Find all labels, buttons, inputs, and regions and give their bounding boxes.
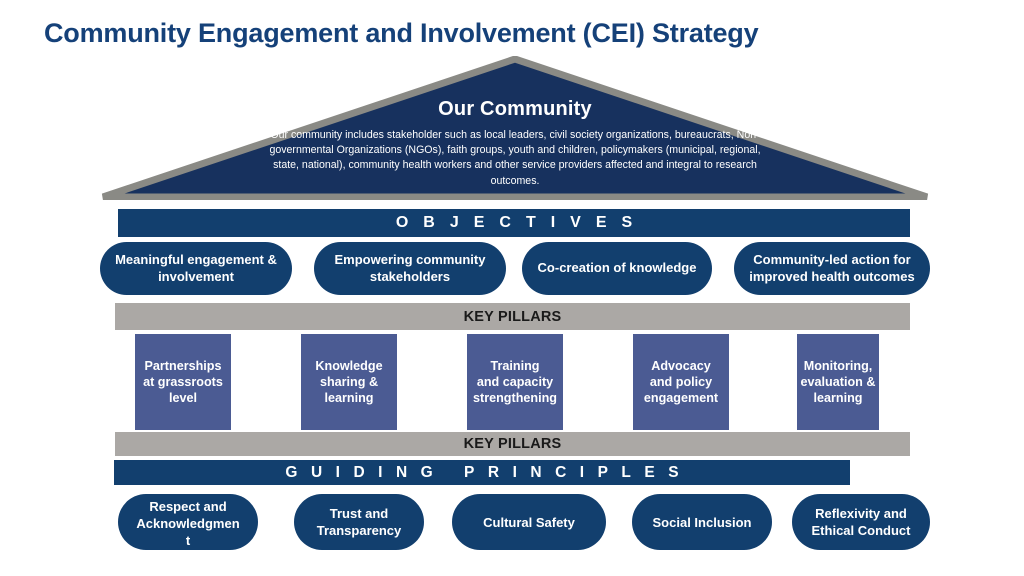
- key-pillar-label: Monitoring, evaluation & learning: [797, 358, 879, 406]
- guiding-principle-line: Acknowledgmen: [136, 516, 239, 531]
- key-pillar-line: learning: [325, 391, 374, 405]
- objective-label: Meaningful engagement & involvement: [100, 252, 292, 285]
- key-pillar-line: strengthening: [473, 391, 557, 405]
- key-pillar-line: engagement: [644, 391, 718, 405]
- key-pillar-line: sharing &: [320, 375, 378, 389]
- guiding-principle-line: Respect and: [149, 499, 226, 514]
- objective-item-4[interactable]: Community-led action for improved health…: [734, 242, 930, 295]
- key-pillar-column-1[interactable]: Partnerships at grassroots level: [135, 334, 231, 430]
- guiding-principle-label: Reflexivity and Ethical Conduct: [806, 505, 917, 539]
- objective-label: Community-led action for improved health…: [734, 252, 930, 285]
- guiding-principle-line: Reflexivity and: [815, 506, 907, 521]
- key-pillar-line: Partnerships: [145, 359, 222, 373]
- guiding-principle-label: Social Inclusion: [647, 514, 758, 531]
- key-pillar-column-2[interactable]: Knowledge sharing & learning: [301, 334, 397, 430]
- guiding-principle-line: Transparency: [317, 523, 402, 538]
- key-pillars-band-bottom: KEY PILLARS: [115, 432, 910, 456]
- key-pillar-label: Advocacy and policy engagement: [633, 358, 729, 406]
- key-pillar-line: level: [169, 391, 197, 405]
- key-pillar-line: evaluation &: [801, 375, 876, 389]
- key-pillar-line: Monitoring,: [804, 359, 873, 373]
- guiding-principle-label: Trust and Transparency: [311, 505, 408, 539]
- objective-item-1[interactable]: Meaningful engagement & involvement: [100, 242, 292, 295]
- guiding-principle-label: Cultural Safety: [477, 514, 581, 531]
- our-community-description: Our community includes stakeholder such …: [262, 128, 768, 189]
- guiding-principle-item-4[interactable]: Social Inclusion: [632, 494, 772, 550]
- key-pillar-line: and capacity: [477, 375, 553, 389]
- guiding-principle-item-2[interactable]: Trust and Transparency: [294, 494, 424, 550]
- key-pillar-column-5[interactable]: Monitoring, evaluation & learning: [797, 334, 879, 430]
- objectives-band: OBJECTIVES: [118, 209, 910, 237]
- guiding-principle-line: t: [186, 533, 190, 548]
- key-pillar-label: Knowledge sharing & learning: [301, 358, 397, 406]
- key-pillar-label: Partnerships at grassroots level: [135, 358, 231, 406]
- guiding-principle-line: Ethical Conduct: [812, 523, 911, 538]
- key-pillars-band-top: KEY PILLARS: [115, 303, 910, 330]
- key-pillar-line: and policy: [650, 375, 712, 389]
- key-pillar-line: Advocacy: [651, 359, 711, 373]
- key-pillar-label: Training and capacity strengthening: [467, 358, 563, 406]
- key-pillar-line: at grassroots: [143, 375, 223, 389]
- objective-label: Co-creation of knowledge: [530, 260, 705, 277]
- guiding-principle-item-3[interactable]: Cultural Safety: [452, 494, 606, 550]
- key-pillar-line: Knowledge: [315, 359, 382, 373]
- key-pillar-line: learning: [814, 391, 863, 405]
- guiding-principles-band: GUIDING PRINCIPLES: [114, 460, 850, 485]
- our-community-heading: Our Community: [100, 98, 930, 121]
- key-pillar-column-3[interactable]: Training and capacity strengthening: [467, 334, 563, 430]
- key-pillar-line: Training: [491, 359, 540, 373]
- cei-strategy-infographic: Community Engagement and Involvement (CE…: [0, 0, 1024, 576]
- objective-label: Empowering community stakeholders: [314, 252, 506, 285]
- guiding-principle-line: Trust and: [330, 506, 389, 521]
- guiding-principle-item-5[interactable]: Reflexivity and Ethical Conduct: [792, 494, 930, 550]
- objective-item-2[interactable]: Empowering community stakeholders: [314, 242, 506, 295]
- objective-item-3[interactable]: Co-creation of knowledge: [522, 242, 712, 295]
- guiding-principle-label: Respect and Acknowledgmen t: [130, 498, 245, 549]
- guiding-principle-item-1[interactable]: Respect and Acknowledgmen t: [118, 494, 258, 550]
- page-title: Community Engagement and Involvement (CE…: [44, 18, 944, 49]
- key-pillar-column-4[interactable]: Advocacy and policy engagement: [633, 334, 729, 430]
